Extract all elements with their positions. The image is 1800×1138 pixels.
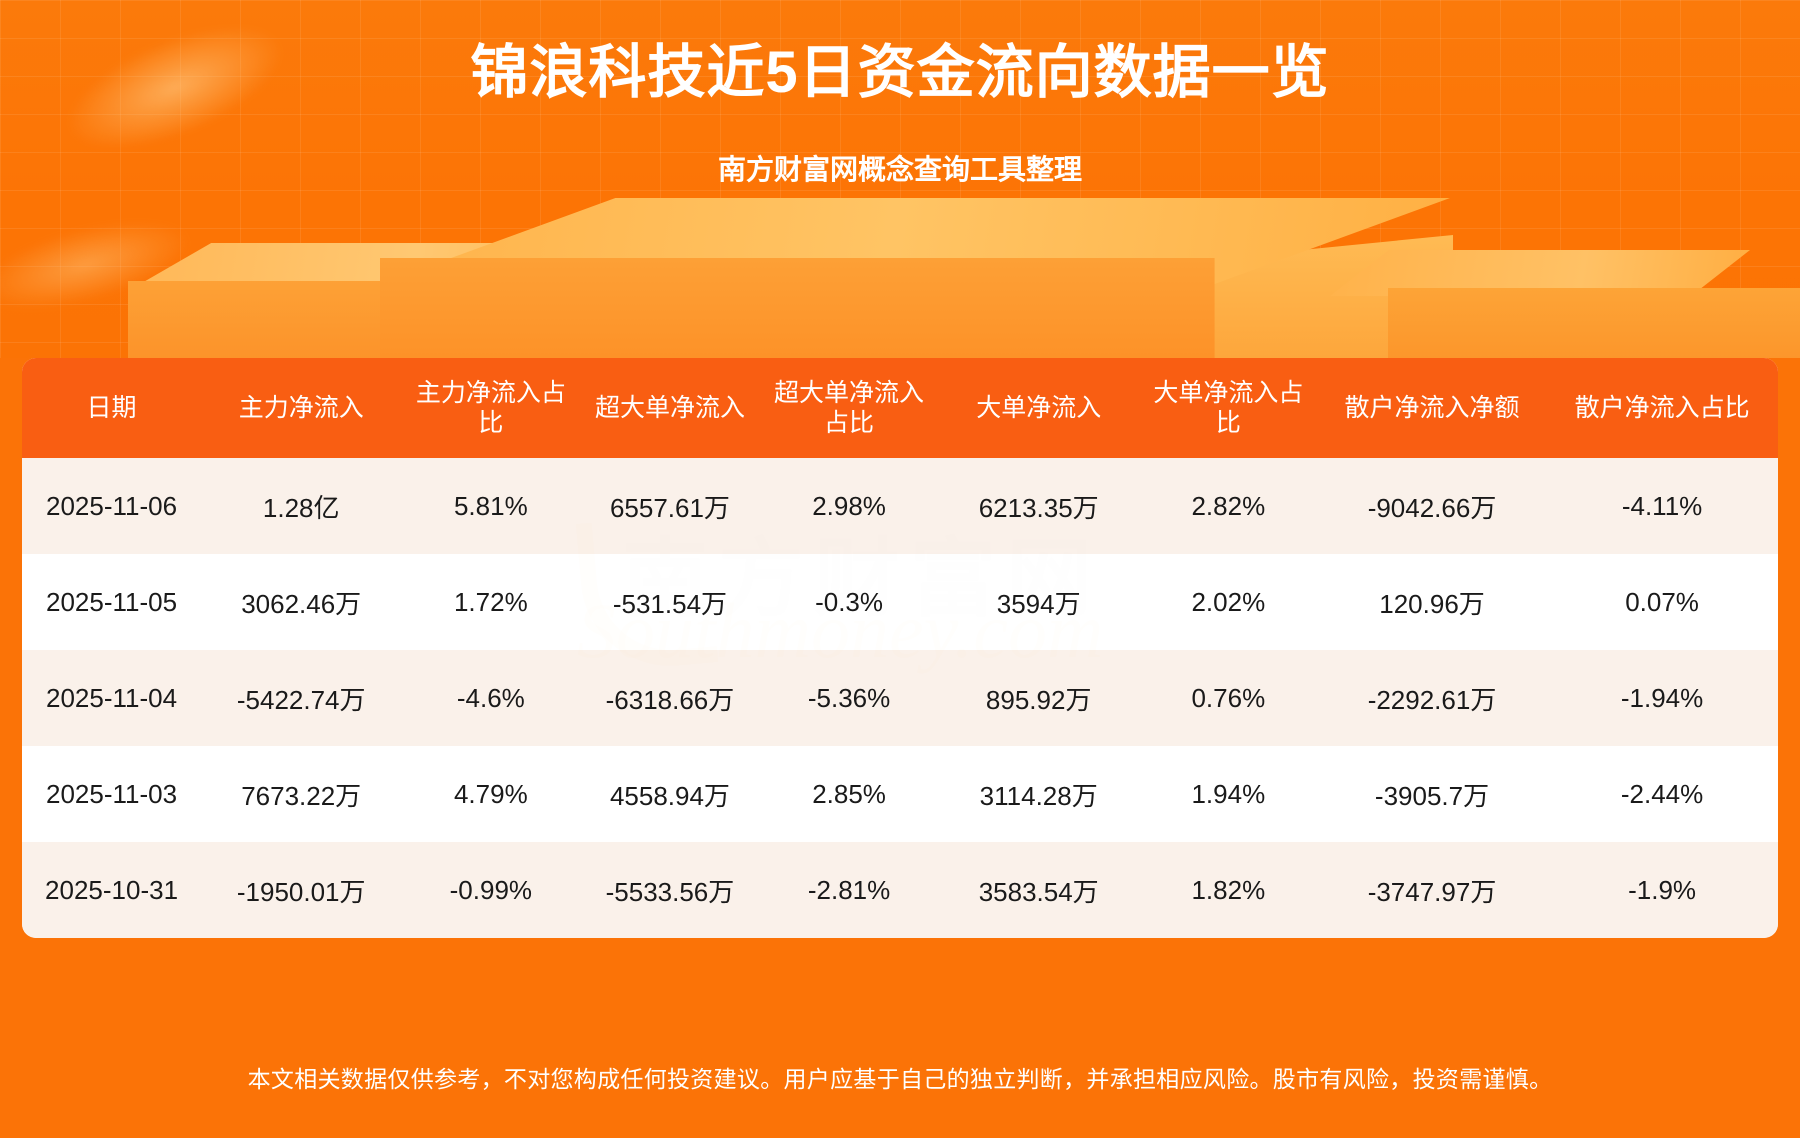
cell-xl-pct: 2.98% [760,458,939,554]
cell-retail-pct: -1.9% [1546,842,1778,938]
cell-xl-net: -531.54万 [580,554,759,650]
column-header-xl-pct[interactable]: 超大单净流入占比 [760,358,939,458]
cell-main-pct: -0.99% [401,842,580,938]
cell-large-net: 3114.28万 [939,746,1139,842]
cell-main-net: -1950.01万 [201,842,401,938]
cell-retail-pct: -1.94% [1546,650,1778,746]
cell-xl-pct: -5.36% [760,650,939,746]
cell-date: 2025-10-31 [22,842,201,938]
cell-date: 2025-11-03 [22,746,201,842]
cell-date: 2025-11-04 [22,650,201,746]
cell-large-net: 895.92万 [939,650,1139,746]
table-body: 2025-11-06 1.28亿 5.81% 6557.61万 2.98% 62… [22,458,1778,938]
cell-xl-net: 4558.94万 [580,746,759,842]
column-header-date[interactable]: 日期 [22,358,201,458]
cell-main-net: 1.28亿 [201,458,401,554]
column-header-large-net[interactable]: 大单净流入 [939,358,1139,458]
fund-flow-table: 日期 主力净流入 主力净流入占比 超大单净流入 超大单净流入占比 大单净流入 大… [22,358,1778,938]
cell-retail-net: 120.96万 [1318,554,1546,650]
podium-right-front-face [1388,288,1800,358]
cell-main-pct: 4.79% [401,746,580,842]
disclaimer-text: 本文相关数据仅供参考，不对您构成任何投资建议。用户应基于自己的独立判断，并承担相… [0,1060,1800,1094]
page-subtitle: 南方财富网概念查询工具整理 [0,148,1800,188]
cell-large-net: 6213.35万 [939,458,1139,554]
table-row: 2025-11-04 -5422.74万 -4.6% -6318.66万 -5.… [22,650,1778,746]
cell-large-net: 3583.54万 [939,842,1139,938]
table-header-row: 日期 主力净流入 主力净流入占比 超大单净流入 超大单净流入占比 大单净流入 大… [22,358,1778,458]
cell-main-net: 3062.46万 [201,554,401,650]
cell-large-pct: 1.82% [1139,842,1318,938]
cell-date: 2025-11-06 [22,458,201,554]
cell-date: 2025-11-05 [22,554,201,650]
cell-xl-pct: 2.85% [760,746,939,842]
column-header-xl-net[interactable]: 超大单净流入 [580,358,759,458]
table-row: 2025-11-05 3062.46万 1.72% -531.54万 -0.3%… [22,554,1778,650]
cell-main-net: 7673.22万 [201,746,401,842]
cell-retail-net: -2292.61万 [1318,650,1546,746]
cell-main-pct: 5.81% [401,458,580,554]
column-header-retail-pct[interactable]: 散户净流入占比 [1546,358,1778,458]
fund-flow-table-card: 南方财富网 Southmoney.com 日期 主力净流入 主力净流入占比 超大… [22,358,1778,938]
page-title: 锦浪科技近5日资金流向数据一览 [0,40,1800,107]
column-header-retail-net[interactable]: 散户净流入净额 [1318,358,1546,458]
column-header-main-net[interactable]: 主力净流入 [201,358,401,458]
cell-main-net: -5422.74万 [201,650,401,746]
cell-retail-pct: 0.07% [1546,554,1778,650]
cell-retail-net: -3905.7万 [1318,746,1546,842]
cell-retail-net: -3747.97万 [1318,842,1546,938]
cell-retail-pct: -2.44% [1546,746,1778,842]
cell-xl-pct: -2.81% [760,842,939,938]
cell-retail-pct: -4.11% [1546,458,1778,554]
cell-large-pct: 2.82% [1139,458,1318,554]
cell-xl-net: 6557.61万 [580,458,759,554]
cell-main-pct: -4.6% [401,650,580,746]
table-row: 2025-11-06 1.28亿 5.81% 6557.61万 2.98% 62… [22,458,1778,554]
column-header-large-pct[interactable]: 大单净流入占比 [1139,358,1318,458]
cell-large-pct: 2.02% [1139,554,1318,650]
cell-large-pct: 1.94% [1139,746,1318,842]
table-header: 日期 主力净流入 主力净流入占比 超大单净流入 超大单净流入占比 大单净流入 大… [22,358,1778,458]
column-header-main-pct[interactable]: 主力净流入占比 [401,358,580,458]
table-row: 2025-11-03 7673.22万 4.79% 4558.94万 2.85%… [22,746,1778,842]
cell-large-net: 3594万 [939,554,1139,650]
cell-retail-net: -9042.66万 [1318,458,1546,554]
cell-xl-net: -5533.56万 [580,842,759,938]
cell-xl-net: -6318.66万 [580,650,759,746]
cell-xl-pct: -0.3% [760,554,939,650]
table-row: 2025-10-31 -1950.01万 -0.99% -5533.56万 -2… [22,842,1778,938]
cell-large-pct: 0.76% [1139,650,1318,746]
cell-main-pct: 1.72% [401,554,580,650]
